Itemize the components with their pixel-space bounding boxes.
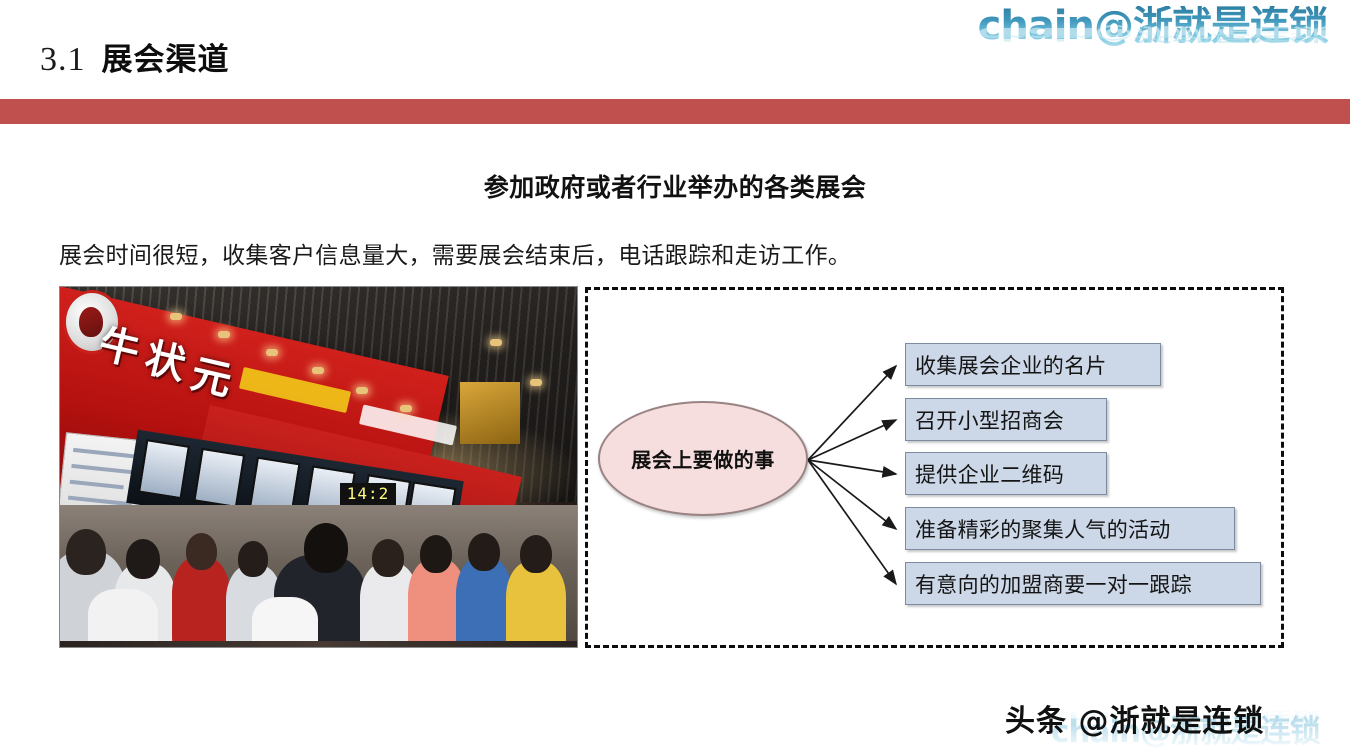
arrow-to-item-4: [808, 460, 896, 529]
footer-watermark: chain@浙就是连锁 chain@浙就是连锁 头条 @浙就是连锁: [1005, 690, 1345, 746]
page-title: 3.1展会渠道: [40, 34, 230, 79]
diagram-leaf-5[interactable]: 有意向的加盟商要一对一跟踪: [905, 562, 1261, 605]
headline: 参加政府或者行业举办的各类展会: [0, 168, 1350, 204]
photo-spotlight: [170, 313, 182, 320]
diagram-panel: 展会上要做的事 收集展会企业的名片 召开小型招商会 提供企业二维码 准备精彩的聚…: [585, 287, 1284, 648]
photo-bottom-strip: [60, 641, 578, 647]
diagram-leaf-1[interactable]: 收集展会企业的名片: [905, 343, 1161, 386]
diagram-leaf-2-label: 召开小型招商会: [915, 405, 1064, 435]
diagram-center-node: 展会上要做的事: [598, 401, 808, 516]
photo-spotlight: [400, 405, 412, 412]
diagram-leaf-3[interactable]: 提供企业二维码: [905, 452, 1107, 495]
brand-logo-reflection: chain@浙就是连锁: [978, 25, 1328, 43]
diagram-leaf-4-label: 准备精彩的聚集人气的活动: [915, 514, 1171, 544]
photo-spotlight: [218, 331, 230, 338]
lead-paragraph: 展会时间很短，收集客户信息量大，需要展会结束后，电话跟踪和走访工作。: [59, 236, 851, 270]
arrow-to-item-1: [808, 366, 896, 460]
photo-spotlight: [312, 367, 324, 374]
photo-spotlight: [266, 349, 278, 356]
photo-spotlight: [530, 379, 542, 386]
diagram-center-label: 展会上要做的事: [631, 444, 775, 473]
photo-spotlight: [490, 339, 502, 346]
arrow-to-item-2: [808, 420, 896, 460]
diagram-leaf-3-label: 提供企业二维码: [915, 459, 1064, 489]
diagram-leaf-4[interactable]: 准备精彩的聚集人气的活动: [905, 507, 1235, 550]
footer-watermark-text: 头条 @浙就是连锁: [1005, 696, 1264, 740]
arrow-to-item-5: [808, 460, 896, 584]
diagram-leaf-2[interactable]: 召开小型招商会: [905, 398, 1107, 441]
exhibition-photo: 牛 状 元 14:2: [59, 286, 578, 648]
diagram-leaf-1-label: 收集展会企业的名片: [915, 350, 1107, 380]
section-number: 3.1: [40, 41, 86, 78]
brand-logo: chain@浙就是连锁 chain@浙就是连锁: [978, 6, 1328, 83]
arrow-to-item-3: [808, 460, 896, 474]
photo-spotlight: [356, 387, 368, 394]
photo-gold-panel: [460, 382, 520, 444]
photo-crowd: [60, 505, 578, 648]
diagram-leaf-5-label: 有意向的加盟商要一对一跟踪: [915, 569, 1192, 599]
photo-digital-clock: 14:2: [340, 483, 396, 505]
section-title-text: 展会渠道: [102, 42, 230, 78]
header-divider-bar: [0, 99, 1350, 124]
